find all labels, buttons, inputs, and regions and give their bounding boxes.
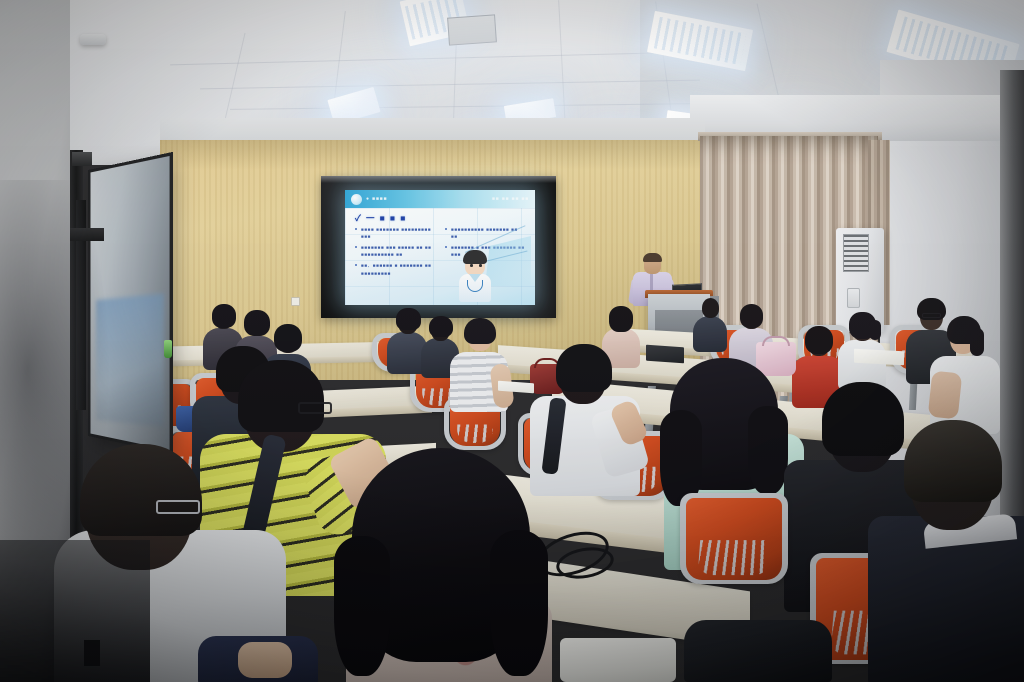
- ac-control-panel[interactable]: [847, 288, 860, 308]
- ceiling-air-vent: [447, 14, 497, 45]
- presentation-slide[interactable]: ● ■■■■ ■■ ■■ ■■ ■■ ✓ 一 ■ ■ ■ ■■■■ ■■■■■■…: [345, 190, 535, 305]
- person-foreground-floral: [328, 448, 568, 682]
- water-bottle-green[interactable]: [164, 340, 172, 358]
- eyeglasses-icon: [156, 500, 200, 514]
- person-podium-right: [692, 296, 728, 350]
- slide-header-left-text: ● ■■■■: [366, 196, 426, 202]
- slide-bullet: ■■■■■■■■■■ ■■■■■■■ ■■ ■■: [445, 226, 525, 240]
- backpack-foreground[interactable]: [684, 620, 832, 682]
- papers-on-table[interactable]: [560, 638, 676, 682]
- doctor-eye-right: [479, 264, 482, 267]
- doctor-hair: [463, 250, 487, 264]
- display-board-top-cap: [72, 152, 92, 166]
- eyeglasses-icon: [298, 402, 332, 414]
- hand: [238, 642, 292, 678]
- chair-right-1[interactable]: [686, 498, 782, 580]
- slide-logo-icon: [351, 194, 362, 205]
- smoke-detector-icon: [80, 34, 106, 45]
- person-striped-tee-back: [448, 318, 510, 410]
- slide-title: ✓ 一 ■ ■ ■: [355, 212, 407, 224]
- foreground-dark-corner: [0, 540, 150, 682]
- presenter-hair: [643, 253, 662, 262]
- person-navy-collar-right: [868, 420, 1024, 682]
- slide-bullet: ■■■■ ■■■■■■■ ■■■■■■■■■ ■■■: [355, 226, 435, 240]
- doctor-eye-left: [470, 264, 473, 267]
- slide-bullet: ■■■■■■■ ■■■ ■■■■■ ■■ ■■ ■■■■■■■■■■ ■■: [355, 244, 435, 258]
- wall-socket-plate: [291, 297, 300, 306]
- wall-shadow: [160, 140, 700, 170]
- ac-vent-grille-icon: [843, 234, 869, 272]
- notebook-far-right[interactable]: [854, 349, 904, 366]
- classroom-photo-scene: ● ■■■■ ■■ ■■ ■■ ■■ ✓ 一 ■ ■ ■ ■■■■ ■■■■■■…: [0, 0, 1024, 682]
- slide-doctor-illustration: [455, 250, 495, 302]
- slide-bullet-column-left: ■■■■ ■■■■■■■ ■■■■■■■■■ ■■■ ■■■■■■■ ■■■ ■…: [355, 226, 435, 281]
- slide-bullet: ■■、■■■■■■ ■ ■■■■■■■ ■■ ■■■■■■■■■: [355, 262, 435, 276]
- handbag-pink-strap: [762, 336, 790, 346]
- screen-frame-highlight: [321, 176, 556, 183]
- slide-header-right-text: ■■ ■■ ■■ ■■: [465, 196, 529, 202]
